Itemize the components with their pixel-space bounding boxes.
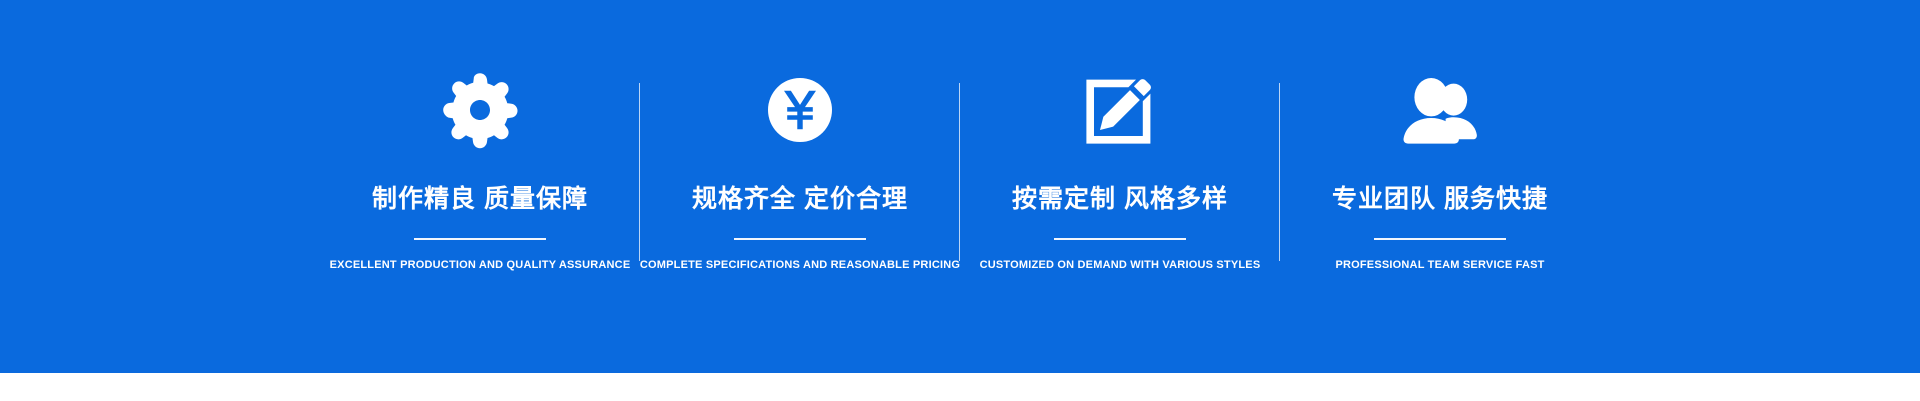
feature-headline: 规格齐全 定价合理: [692, 187, 908, 212]
feature-subline: COMPLETE SPECIFICATIONS AND REASONABLE P…: [640, 260, 960, 271]
features-row: 制作精良 质量保障 EXCELLENT PRODUCTION AND QUALI…: [0, 0, 1920, 373]
feature-highlight-band: 制作精良 质量保障 EXCELLENT PRODUCTION AND QUALI…: [0, 0, 1920, 373]
page-bottom-strip: [0, 373, 1920, 401]
feature-item-team[interactable]: 专业团队 服务快捷 PROFESSIONAL TEAM SERVICE FAST: [1280, 0, 1600, 373]
feature-divider-rule: [1374, 238, 1506, 240]
edit-square-pencil-icon: [1080, 55, 1160, 165]
feature-divider-rule: [414, 238, 546, 240]
feature-item-customization[interactable]: 按需定制 风格多样 CUSTOMIZED ON DEMAND WITH VARI…: [960, 0, 1280, 373]
feature-headline: 按需定制 风格多样: [1012, 187, 1228, 212]
yen-circle-icon: [760, 55, 840, 165]
feature-divider-rule: [734, 238, 866, 240]
feature-subline: CUSTOMIZED ON DEMAND WITH VARIOUS STYLES: [980, 260, 1261, 271]
feature-headline: 制作精良 质量保障: [372, 187, 588, 212]
feature-divider-rule: [1054, 238, 1186, 240]
gear-icon: [440, 55, 520, 165]
feature-subline: EXCELLENT PRODUCTION AND QUALITY ASSURAN…: [330, 260, 631, 271]
users-group-icon: [1396, 55, 1484, 165]
feature-item-pricing[interactable]: 规格齐全 定价合理 COMPLETE SPECIFICATIONS AND RE…: [640, 0, 960, 373]
feature-headline: 专业团队 服务快捷: [1332, 187, 1548, 212]
feature-item-quality[interactable]: 制作精良 质量保障 EXCELLENT PRODUCTION AND QUALI…: [320, 0, 640, 373]
feature-subline: PROFESSIONAL TEAM SERVICE FAST: [1335, 260, 1544, 271]
